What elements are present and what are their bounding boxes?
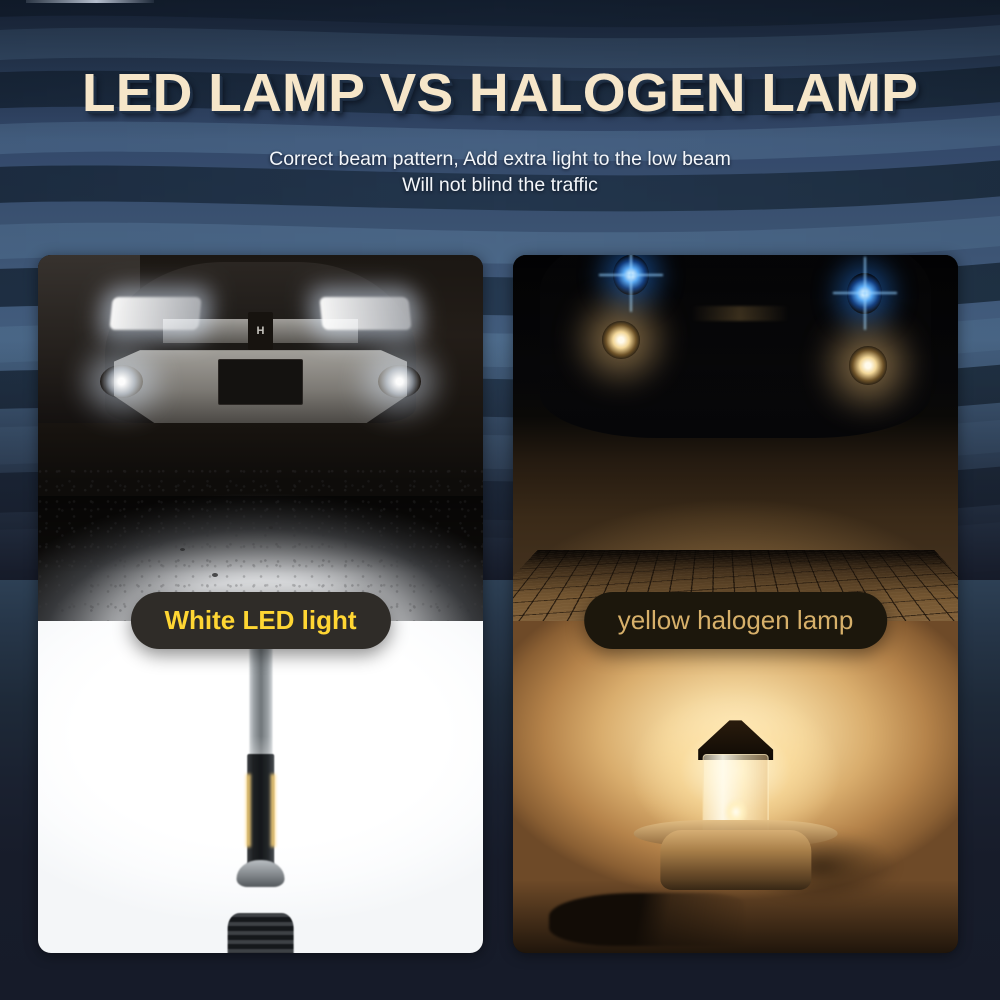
led-night-scene-photo: H — [38, 255, 483, 621]
header: LED LAMP VS HALOGEN LAMP Correct beam pa… — [0, 0, 1000, 230]
halogen-bulb-photo — [513, 621, 958, 953]
halogen-night-scene-photo — [513, 255, 958, 621]
license-plate — [218, 359, 303, 405]
blue-accent-light-right — [847, 273, 883, 313]
halogen-bottom-shade — [513, 880, 958, 953]
led-headlight-right — [319, 297, 411, 330]
infographic-page: LED LAMP VS HALOGEN LAMP Correct beam pa… — [0, 0, 1000, 1000]
subtitle-line-1: Correct beam pattern, Add extra light to… — [269, 148, 731, 170]
caption-white-led-light: White LED light — [130, 592, 390, 649]
subtitle-line-2: Will not blind the traffic — [0, 172, 1000, 198]
led-headlight-left — [110, 297, 202, 330]
led-bulb-base — [227, 913, 294, 953]
panel-halogen[interactable]: yellow halogen lamp — [513, 255, 958, 953]
comparison-panels: H White LED light — [38, 255, 958, 953]
led-foglight-left — [100, 365, 142, 398]
road-debris — [212, 573, 218, 577]
halogen-headlight-left — [602, 321, 640, 359]
halogen-headlight-right — [849, 346, 887, 384]
led-foglight-right — [378, 365, 420, 398]
page-title: LED LAMP VS HALOGEN LAMP — [0, 62, 1000, 124]
honda-badge-icon: H — [248, 312, 272, 350]
led-collar — [236, 860, 285, 887]
page-subtitle: Correct beam pattern, Add extra light to… — [0, 146, 1000, 198]
led-bulb-photo — [38, 621, 483, 953]
panel-led[interactable]: H White LED light — [38, 255, 483, 953]
scene-top-shadow — [513, 255, 958, 423]
blue-accent-light-left — [613, 255, 649, 295]
led-chip-strip — [238, 774, 283, 847]
caption-yellow-halogen-lamp: yellow halogen lamp — [584, 592, 888, 649]
